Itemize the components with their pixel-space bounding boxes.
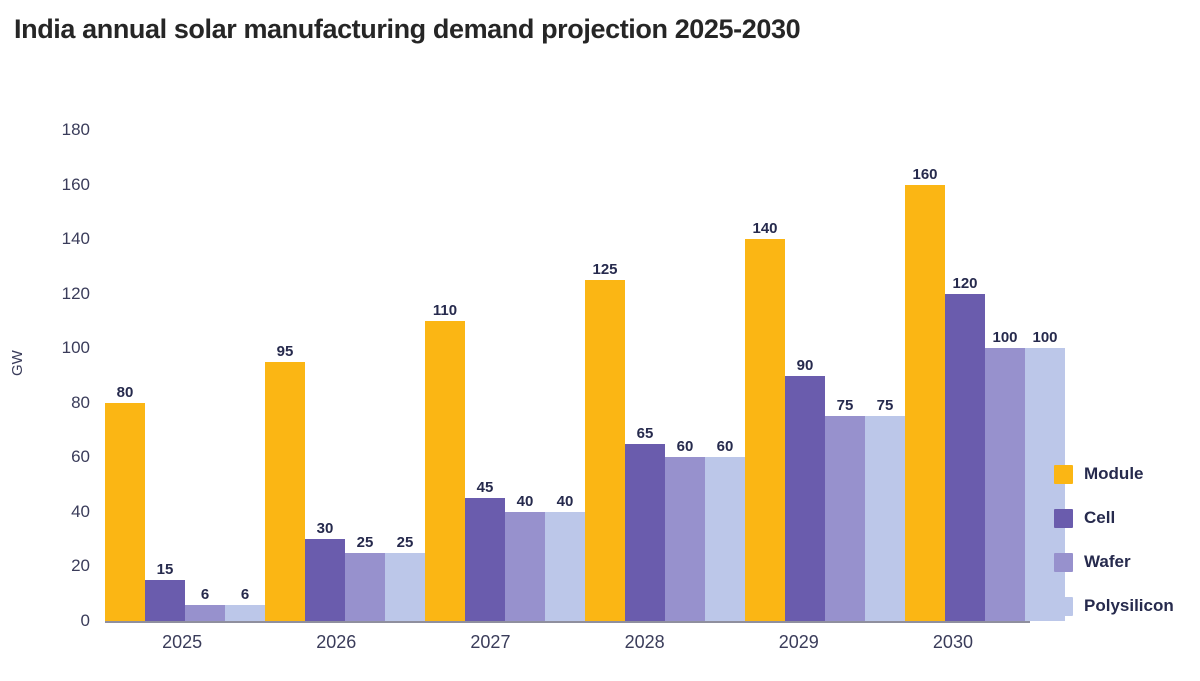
bar-rect[interactable] bbox=[625, 444, 665, 621]
bar-polysilicon-2029[interactable]: 75 bbox=[865, 130, 905, 621]
chart-title: India annual solar manufacturing demand … bbox=[14, 14, 800, 45]
bar-value-label: 65 bbox=[637, 426, 654, 444]
bar-wafer-2029[interactable]: 75 bbox=[825, 130, 865, 621]
bar-group: 801566 bbox=[105, 130, 265, 621]
bar-wafer-2030[interactable]: 100 bbox=[985, 130, 1025, 621]
y-axis-tick-40: 40 bbox=[71, 502, 90, 522]
bar-value-label: 40 bbox=[517, 494, 534, 512]
bar-cell-2029[interactable]: 90 bbox=[785, 130, 825, 621]
bar-module-2026[interactable]: 95 bbox=[265, 130, 305, 621]
x-axis-tick-2029: 2029 bbox=[722, 632, 876, 653]
legend-label: Wafer bbox=[1084, 552, 1131, 572]
bar-group: 125656060 bbox=[585, 130, 745, 621]
bar-polysilicon-2027[interactable]: 40 bbox=[545, 130, 585, 621]
bar-rect[interactable] bbox=[105, 403, 145, 621]
x-axis-tick-2027: 2027 bbox=[413, 632, 567, 653]
bar-rect[interactable] bbox=[665, 457, 705, 621]
bar-module-2025[interactable]: 80 bbox=[105, 130, 145, 621]
bar-group: 95302525 bbox=[265, 130, 425, 621]
bar-wafer-2027[interactable]: 40 bbox=[505, 130, 545, 621]
bar-value-label: 80 bbox=[117, 385, 134, 403]
legend-swatch-icon bbox=[1054, 509, 1073, 528]
bar-rect[interactable] bbox=[505, 512, 545, 621]
bar-rect[interactable] bbox=[385, 553, 425, 621]
bar-value-label: 110 bbox=[433, 303, 457, 321]
bar-value-label: 6 bbox=[201, 587, 209, 605]
bar-value-label: 60 bbox=[717, 439, 734, 457]
y-axis-tick-20: 20 bbox=[71, 556, 90, 576]
bar-cell-2025[interactable]: 15 bbox=[145, 130, 185, 621]
bar-rect[interactable] bbox=[305, 539, 345, 621]
bar-wafer-2028[interactable]: 60 bbox=[665, 130, 705, 621]
x-axis-tick-2028: 2028 bbox=[568, 632, 722, 653]
y-axis-tick-140: 140 bbox=[62, 229, 90, 249]
bar-wafer-2025[interactable]: 6 bbox=[185, 130, 225, 621]
bar-rect[interactable] bbox=[745, 239, 785, 621]
bar-rect[interactable] bbox=[185, 605, 225, 621]
bar-value-label: 140 bbox=[752, 221, 777, 239]
x-axis-tick-2025: 2025 bbox=[105, 632, 259, 653]
x-axis-line bbox=[105, 621, 1030, 623]
bar-rect[interactable] bbox=[785, 376, 825, 622]
bar-rect[interactable] bbox=[705, 457, 745, 621]
legend-swatch-icon bbox=[1054, 465, 1073, 484]
chart-container: India annual solar manufacturing demand … bbox=[0, 0, 1200, 681]
bar-rect[interactable] bbox=[265, 362, 305, 621]
bar-rect[interactable] bbox=[945, 294, 985, 621]
bar-cell-2030[interactable]: 120 bbox=[945, 130, 985, 621]
legend-item-wafer[interactable]: Wafer bbox=[1054, 540, 1200, 584]
y-axis: 020406080100120140160180 bbox=[0, 130, 98, 623]
bar-rect[interactable] bbox=[865, 416, 905, 621]
bar-value-label: 90 bbox=[797, 358, 814, 376]
bar-polysilicon-2026[interactable]: 25 bbox=[385, 130, 425, 621]
bar-groups: 8015669530252511045404012565606014090757… bbox=[105, 130, 1030, 621]
bar-rect[interactable] bbox=[585, 280, 625, 621]
bar-group: 110454040 bbox=[425, 130, 585, 621]
bar-rect[interactable] bbox=[465, 498, 505, 621]
bar-group: 140907575 bbox=[745, 130, 905, 621]
y-axis-tick-60: 60 bbox=[71, 447, 90, 467]
legend-label: Polysilicon bbox=[1084, 596, 1174, 616]
y-axis-tick-100: 100 bbox=[62, 338, 90, 358]
bar-polysilicon-2025[interactable]: 6 bbox=[225, 130, 265, 621]
bar-wafer-2026[interactable]: 25 bbox=[345, 130, 385, 621]
x-axis-tick-2030: 2030 bbox=[876, 632, 1030, 653]
bar-cell-2026[interactable]: 30 bbox=[305, 130, 345, 621]
bar-value-label: 25 bbox=[397, 535, 414, 553]
bar-module-2030[interactable]: 160 bbox=[905, 130, 945, 621]
bar-group: 160120100100 bbox=[905, 130, 1065, 621]
bar-value-label: 60 bbox=[677, 439, 694, 457]
legend-item-module[interactable]: Module bbox=[1054, 452, 1200, 496]
y-axis-tick-80: 80 bbox=[71, 393, 90, 413]
bar-value-label: 6 bbox=[241, 587, 249, 605]
bar-module-2028[interactable]: 125 bbox=[585, 130, 625, 621]
plot-area: 8015669530252511045404012565606014090757… bbox=[105, 130, 1030, 623]
bar-value-label: 40 bbox=[557, 494, 574, 512]
bar-cell-2027[interactable]: 45 bbox=[465, 130, 505, 621]
legend-label: Cell bbox=[1084, 508, 1115, 528]
legend-swatch-icon bbox=[1054, 597, 1073, 616]
bar-value-label: 45 bbox=[477, 480, 494, 498]
legend-swatch-icon bbox=[1054, 553, 1073, 572]
legend-item-polysilicon[interactable]: Polysilicon bbox=[1054, 584, 1200, 628]
bar-value-label: 25 bbox=[357, 535, 374, 553]
bar-rect[interactable] bbox=[905, 185, 945, 621]
bar-value-label: 30 bbox=[317, 521, 334, 539]
bar-cell-2028[interactable]: 65 bbox=[625, 130, 665, 621]
bar-rect[interactable] bbox=[145, 580, 185, 621]
bar-value-label: 125 bbox=[592, 262, 617, 280]
legend-item-cell[interactable]: Cell bbox=[1054, 496, 1200, 540]
bar-rect[interactable] bbox=[825, 416, 865, 621]
bar-value-label: 75 bbox=[837, 398, 854, 416]
bar-value-label: 15 bbox=[157, 562, 174, 580]
x-axis-tick-labels: 202520262027202820292030 bbox=[105, 632, 1030, 653]
bar-value-label: 75 bbox=[877, 398, 894, 416]
y-axis-tick-160: 160 bbox=[62, 175, 90, 195]
bar-rect[interactable] bbox=[225, 605, 265, 621]
bar-value-label: 160 bbox=[912, 167, 937, 185]
bar-module-2029[interactable]: 140 bbox=[745, 130, 785, 621]
y-axis-tick-0: 0 bbox=[81, 611, 90, 631]
bar-value-label: 95 bbox=[277, 344, 294, 362]
bar-rect[interactable] bbox=[985, 348, 1025, 621]
bar-polysilicon-2028[interactable]: 60 bbox=[705, 130, 745, 621]
bar-rect[interactable] bbox=[345, 553, 385, 621]
bar-module-2027[interactable]: 110 bbox=[425, 130, 465, 621]
y-axis-tick-180: 180 bbox=[62, 120, 90, 140]
legend-label: Module bbox=[1084, 464, 1144, 484]
bar-rect[interactable] bbox=[425, 321, 465, 621]
bar-value-label: 100 bbox=[992, 330, 1017, 348]
bar-rect[interactable] bbox=[545, 512, 585, 621]
x-axis-tick-2026: 2026 bbox=[259, 632, 413, 653]
chart-legend: ModuleCellWaferPolysilicon bbox=[1054, 452, 1200, 628]
bar-value-label: 120 bbox=[952, 276, 977, 294]
bar-value-label: 100 bbox=[1032, 330, 1057, 348]
y-axis-tick-120: 120 bbox=[62, 284, 90, 304]
